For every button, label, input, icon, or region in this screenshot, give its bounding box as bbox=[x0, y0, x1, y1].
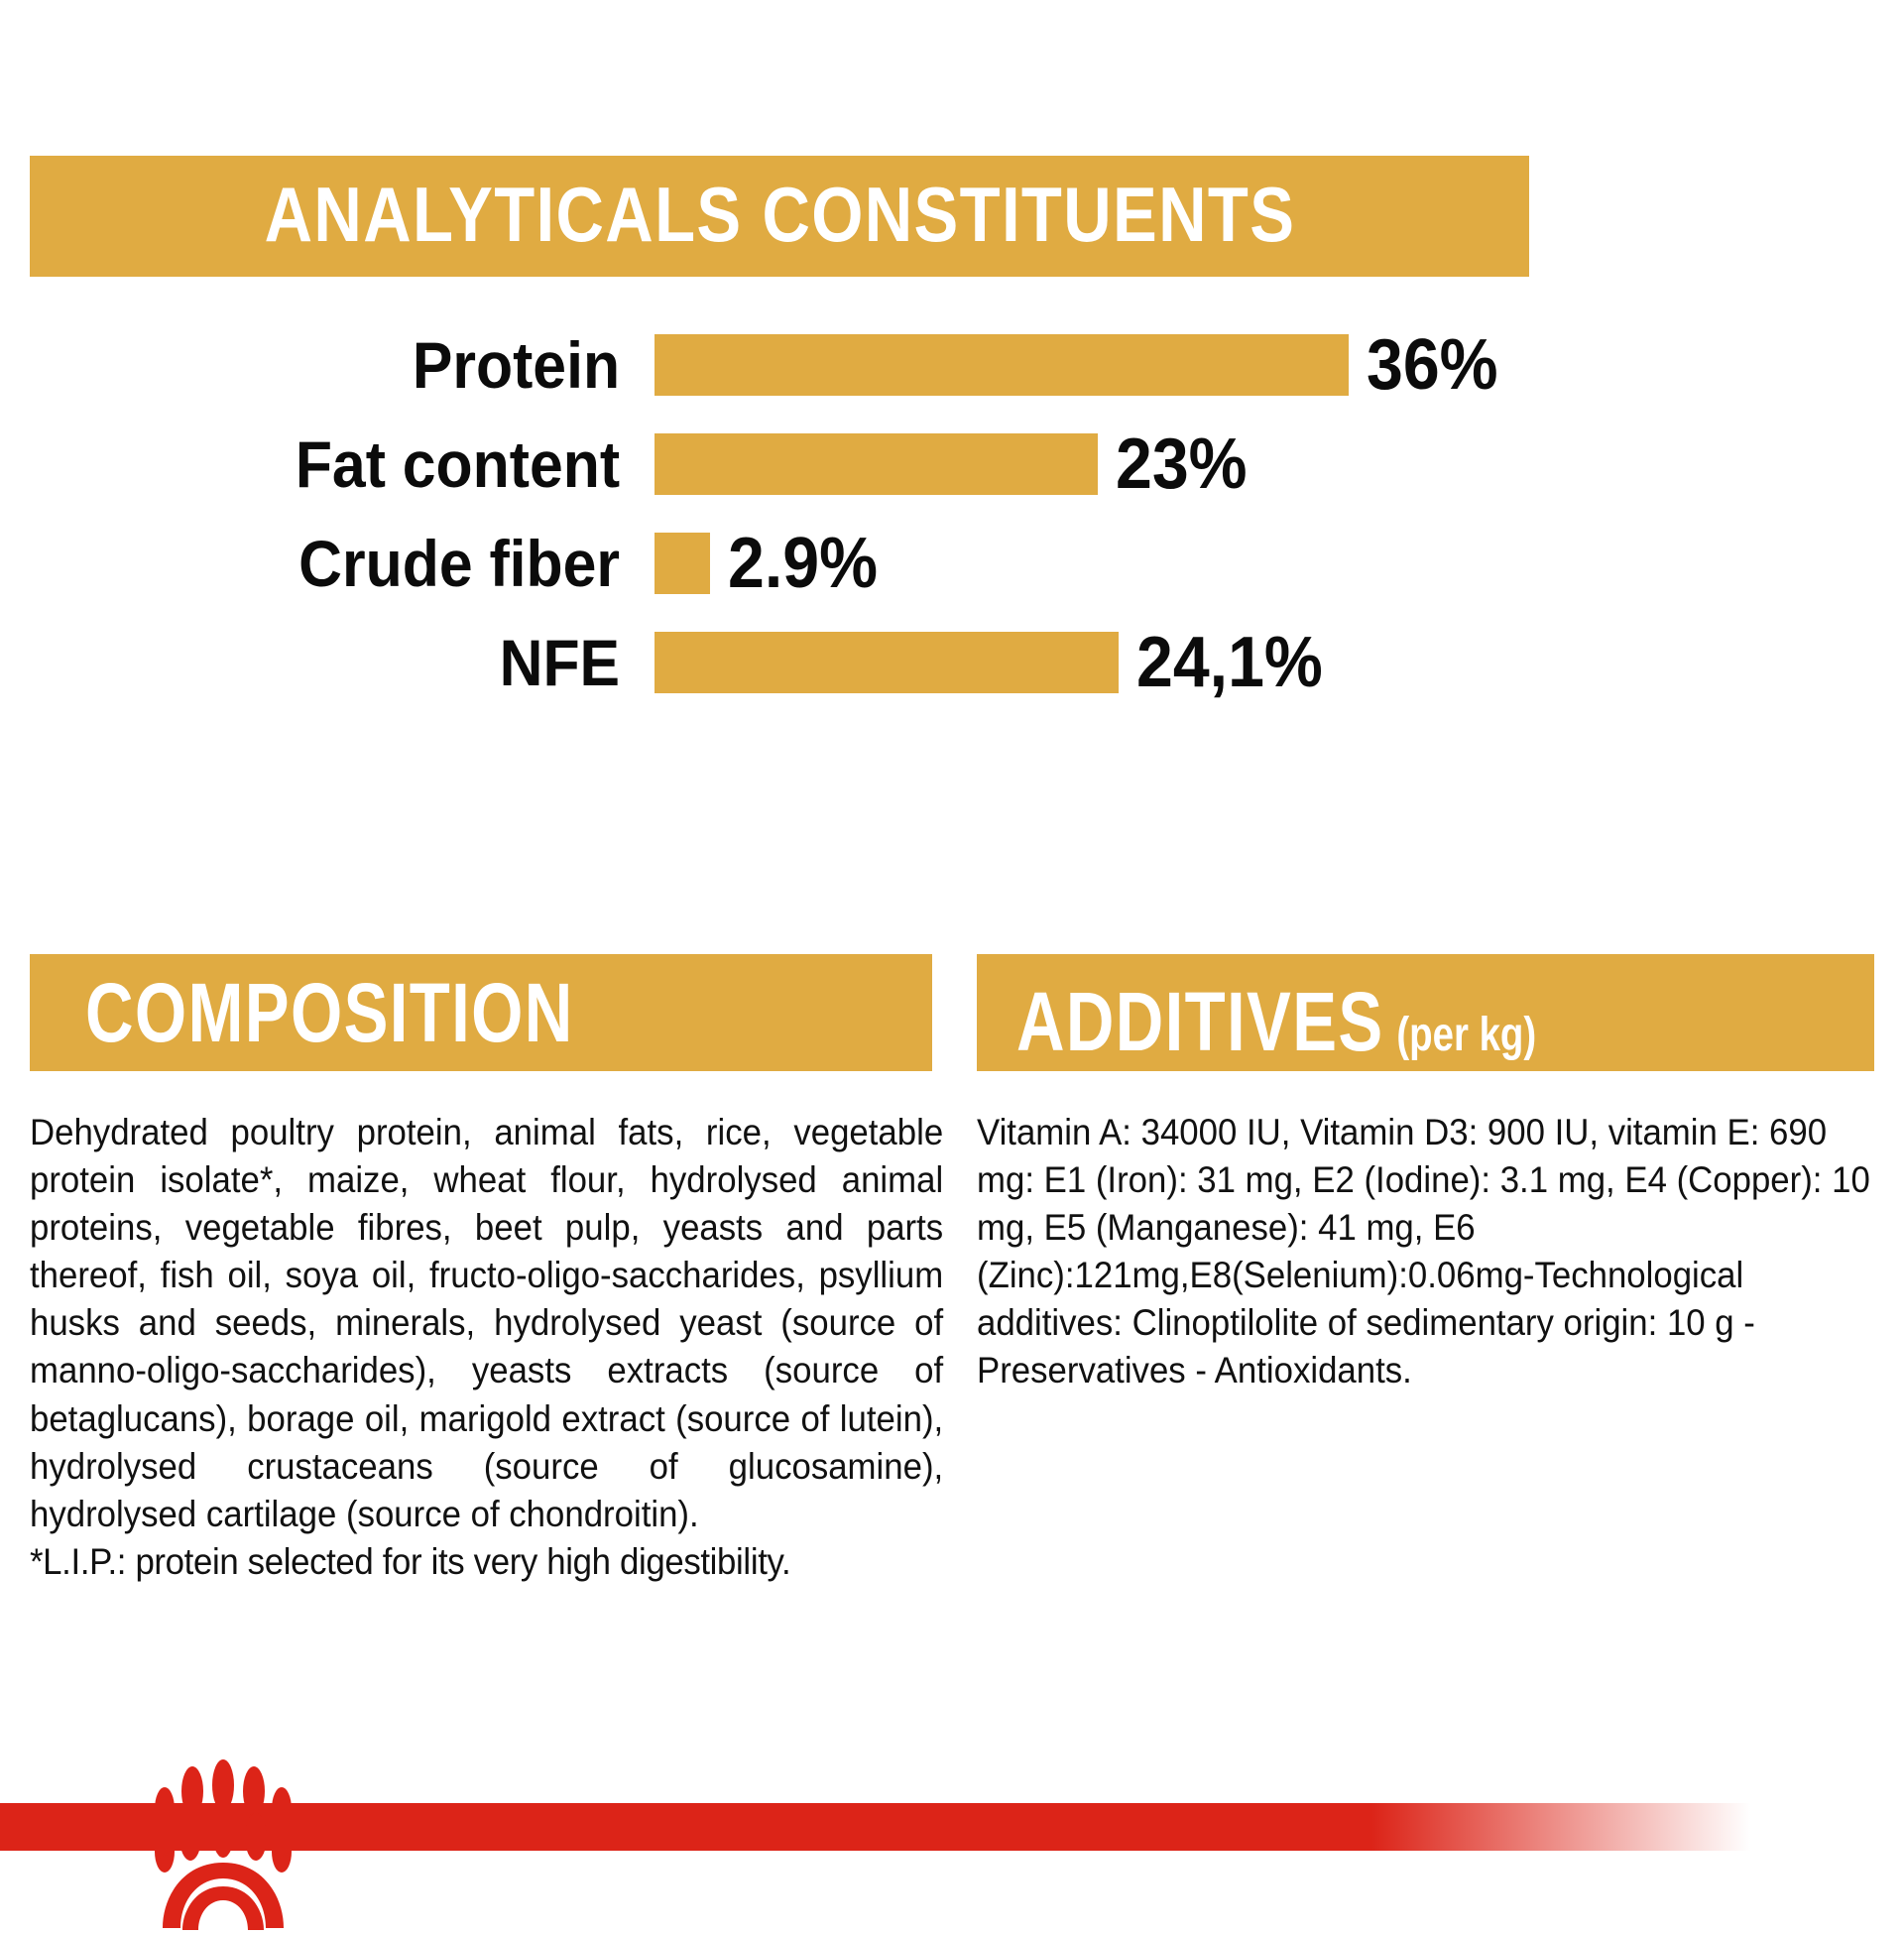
chart-bar-fat-content bbox=[654, 433, 1098, 495]
chart-label-fat-content: Fat content bbox=[53, 431, 654, 497]
composition-footnote: *L.I.P.: protein selected for its very h… bbox=[30, 1538, 943, 1586]
chart-label-crude-fiber: Crude fiber bbox=[53, 531, 654, 596]
chart-bar-protein bbox=[654, 334, 1349, 396]
chart-bar-crude-fiber bbox=[654, 533, 710, 594]
chart-row-nfe: NFE 24,1% bbox=[0, 613, 1904, 712]
analyticals-bar-chart: Protein 36% Fat content 23% Crude fiber … bbox=[0, 315, 1904, 712]
additives-body: Vitamin A: 34000 IU, Vitamin D3: 900 IU,… bbox=[977, 1109, 1890, 1395]
royal-canin-crown-paw-icon bbox=[129, 1752, 317, 1930]
chart-bar-group-nfe: 24,1% bbox=[654, 627, 1339, 698]
chart-row-protein: Protein 36% bbox=[0, 315, 1904, 415]
composition-title: COMPOSITION bbox=[85, 971, 574, 1054]
chart-bar-group-crude-fiber: 2.9% bbox=[654, 528, 891, 599]
chart-bar-group-protein: 36% bbox=[654, 329, 1509, 401]
additives-title: ADDITIVES bbox=[1016, 980, 1384, 1063]
chart-label-nfe: NFE bbox=[53, 630, 654, 695]
composition-body: Dehydrated poultry protein, animal fats,… bbox=[30, 1109, 943, 1586]
chart-row-fat-content: Fat content 23% bbox=[0, 415, 1904, 514]
chart-bar-nfe bbox=[654, 632, 1119, 693]
footer bbox=[0, 1775, 1904, 1904]
composition-paragraph: Dehydrated poultry protein, animal fats,… bbox=[30, 1112, 943, 1534]
additives-banner: ADDITIVES (per kg) bbox=[977, 954, 1874, 1071]
additives-title-group: ADDITIVES (per kg) bbox=[1016, 980, 1536, 1063]
chart-value-fat-content: 23% bbox=[1116, 428, 1248, 500]
analyticals-constituents-banner: ANALYTICALS CONSTITUENTS bbox=[30, 156, 1529, 277]
analyticals-constituents-title: ANALYTICALS CONSTITUENTS bbox=[264, 176, 1295, 257]
chart-row-crude-fiber: Crude fiber 2.9% bbox=[0, 514, 1904, 613]
chart-bar-group-fat-content: 23% bbox=[654, 428, 1258, 500]
additives-paragraph: Vitamin A: 34000 IU, Vitamin D3: 900 IU,… bbox=[977, 1112, 1870, 1391]
chart-value-nfe: 24,1% bbox=[1136, 627, 1323, 698]
chart-value-crude-fiber: 2.9% bbox=[728, 528, 878, 599]
additives-per-kg-label: (per kg) bbox=[1396, 1012, 1536, 1059]
chart-value-protein: 36% bbox=[1367, 329, 1498, 401]
chart-label-protein: Protein bbox=[53, 332, 654, 398]
composition-banner: COMPOSITION bbox=[30, 954, 932, 1071]
